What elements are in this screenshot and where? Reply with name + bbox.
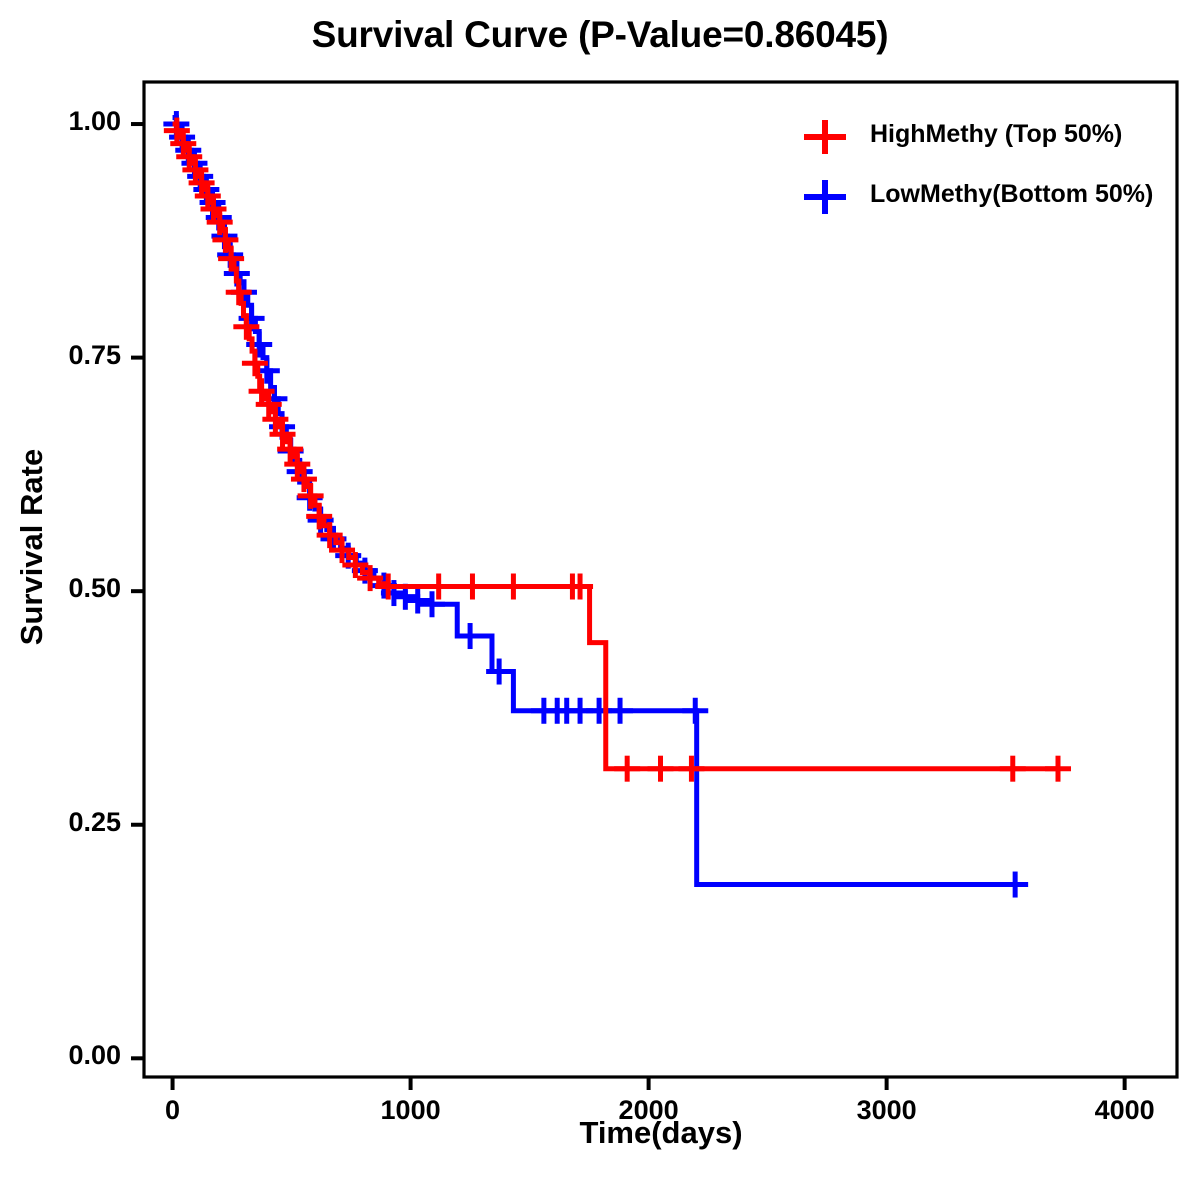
y-tick-label: 0.25 <box>11 807 121 838</box>
y-tick-label: 0.00 <box>11 1040 121 1071</box>
x-tick-label: 3000 <box>817 1095 957 1126</box>
y-tick-label: 0.75 <box>11 340 121 371</box>
y-tick-label: 0.50 <box>11 573 121 604</box>
x-tick-label: 2000 <box>579 1095 719 1126</box>
legend-markers <box>804 120 846 214</box>
series-line-highmethy <box>164 118 1071 782</box>
y-tick-label: 1.00 <box>11 106 121 137</box>
axis-ticks <box>131 124 1125 1090</box>
x-tick-label: 4000 <box>1055 1095 1195 1126</box>
legend-item-label: LowMethy(Bottom 50%) <box>870 180 1153 209</box>
survival-curve-figure: Survival Curve (P-Value=0.86045) Surviva… <box>0 0 1200 1200</box>
x-tick-label: 1000 <box>341 1095 481 1126</box>
x-tick-label: 0 <box>103 1095 243 1126</box>
legend-item-label: HighMethy (Top 50%) <box>870 120 1122 149</box>
series-line-lowmethy <box>163 111 1028 897</box>
axis-frame <box>144 82 1177 1077</box>
